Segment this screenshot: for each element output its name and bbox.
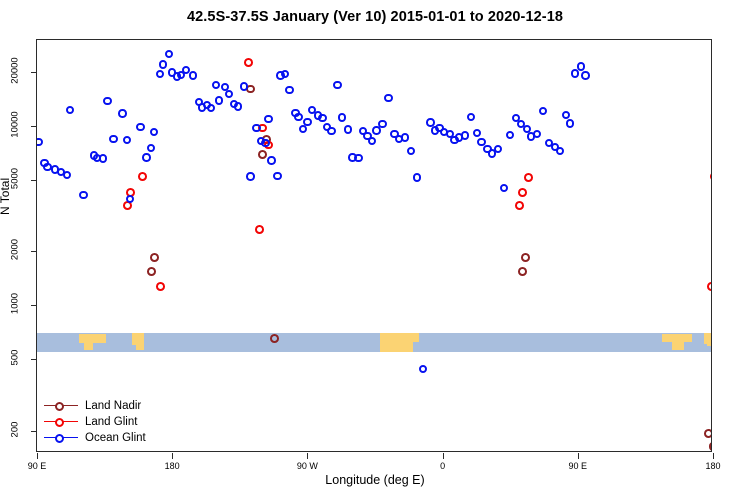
map-land-patch bbox=[672, 342, 684, 349]
data-point bbox=[338, 113, 346, 121]
data-point bbox=[281, 70, 289, 78]
data-point bbox=[413, 173, 421, 181]
data-point bbox=[156, 282, 165, 291]
data-point bbox=[109, 135, 117, 143]
data-point bbox=[333, 81, 341, 89]
y-tick-label: 10000 bbox=[10, 110, 21, 138]
legend-ring-icon bbox=[55, 434, 64, 443]
data-point bbox=[147, 267, 156, 276]
data-point bbox=[533, 130, 541, 138]
data-point bbox=[234, 102, 242, 110]
data-point bbox=[123, 136, 131, 144]
data-point bbox=[303, 118, 311, 126]
data-point bbox=[473, 129, 481, 137]
data-point bbox=[581, 71, 589, 79]
data-point bbox=[261, 139, 269, 147]
data-point bbox=[270, 334, 279, 343]
map-land-patch bbox=[401, 333, 419, 342]
data-point bbox=[518, 267, 527, 276]
plot-frame: 2005001000200050001000020000 90 E18090 W… bbox=[36, 39, 712, 452]
y-tick-label: 1000 bbox=[10, 290, 21, 318]
data-point bbox=[126, 195, 134, 203]
y-tick-label: 20000 bbox=[10, 56, 21, 84]
y-tick bbox=[31, 180, 37, 181]
data-point bbox=[710, 172, 711, 181]
legend-label: Land Nadir bbox=[85, 400, 141, 412]
data-point bbox=[518, 188, 527, 197]
data-point bbox=[207, 104, 215, 112]
data-point bbox=[539, 107, 547, 115]
data-point bbox=[273, 172, 281, 180]
x-tick bbox=[443, 453, 444, 459]
data-point bbox=[63, 171, 71, 179]
legend-item[interactable]: Ocean Glint bbox=[44, 430, 146, 446]
data-point bbox=[707, 282, 711, 291]
data-point bbox=[66, 106, 74, 114]
data-point bbox=[327, 127, 335, 135]
x-tick-label: 180 bbox=[165, 461, 180, 471]
data-point bbox=[384, 94, 392, 102]
data-point bbox=[506, 131, 514, 139]
map-land-patch bbox=[136, 345, 144, 350]
legend-ring-icon bbox=[55, 402, 64, 411]
y-tick bbox=[31, 359, 37, 360]
data-point bbox=[79, 191, 87, 199]
data-point bbox=[571, 69, 579, 77]
data-point bbox=[267, 156, 275, 164]
x-tick bbox=[37, 453, 38, 459]
data-point bbox=[494, 145, 502, 153]
legend-item[interactable]: Land Glint bbox=[44, 414, 146, 430]
data-point bbox=[318, 114, 326, 122]
chart-figure: 42.5S-37.5S January (Ver 10) 2015-01-01 … bbox=[0, 0, 750, 500]
data-point bbox=[294, 113, 302, 121]
y-tick bbox=[31, 251, 37, 252]
legend-item[interactable]: Land Nadir bbox=[44, 398, 146, 414]
data-point bbox=[368, 137, 376, 145]
data-point bbox=[461, 131, 469, 139]
map-land-patch bbox=[79, 334, 106, 343]
x-tick-label: 90 E bbox=[569, 461, 588, 471]
plot-area bbox=[37, 40, 711, 451]
data-point bbox=[264, 115, 272, 123]
y-tick bbox=[31, 126, 37, 127]
data-point bbox=[704, 429, 711, 438]
data-point bbox=[524, 173, 533, 182]
y-tick bbox=[31, 305, 37, 306]
data-point bbox=[566, 119, 574, 127]
data-point bbox=[709, 442, 711, 451]
data-point bbox=[103, 97, 111, 105]
data-point bbox=[556, 147, 564, 155]
data-point bbox=[252, 124, 260, 132]
x-tick bbox=[307, 453, 308, 459]
data-point bbox=[401, 133, 409, 141]
data-point bbox=[37, 138, 43, 146]
chart-title: 42.5S-37.5S January (Ver 10) 2015-01-01 … bbox=[0, 9, 750, 25]
map-land-patch bbox=[662, 334, 692, 342]
data-point bbox=[99, 154, 107, 162]
data-point bbox=[142, 153, 150, 161]
data-point bbox=[258, 150, 267, 159]
data-point bbox=[521, 253, 530, 262]
data-point bbox=[165, 50, 173, 58]
legend-marker-icon bbox=[44, 415, 78, 429]
legend-ring-icon bbox=[55, 418, 64, 427]
x-tick-label: 90 W bbox=[297, 461, 318, 471]
chart-legend: Land NadirLand GlintOcean Glint bbox=[44, 398, 146, 446]
data-point bbox=[244, 58, 253, 67]
x-tick-label: 90 E bbox=[28, 461, 47, 471]
y-axis-title: N Total bbox=[0, 178, 12, 215]
data-point bbox=[159, 60, 167, 68]
legend-label: Ocean Glint bbox=[85, 432, 146, 444]
y-tick bbox=[31, 72, 37, 73]
y-tick-label: 500 bbox=[10, 344, 21, 372]
data-point bbox=[246, 172, 254, 180]
data-point bbox=[156, 70, 164, 78]
data-point bbox=[354, 154, 362, 162]
x-axis-title: Longitude (deg E) bbox=[0, 473, 750, 487]
legend-label: Land Glint bbox=[85, 416, 137, 428]
data-point bbox=[136, 123, 144, 131]
x-tick bbox=[172, 453, 173, 459]
data-point bbox=[562, 111, 570, 119]
data-point bbox=[255, 225, 264, 234]
map-land-patch bbox=[84, 343, 93, 350]
data-point bbox=[225, 90, 233, 98]
data-point bbox=[215, 96, 223, 104]
data-point bbox=[150, 128, 158, 136]
data-point bbox=[577, 62, 585, 70]
x-tick bbox=[713, 453, 714, 459]
legend-marker-icon bbox=[44, 431, 78, 445]
data-point bbox=[189, 71, 197, 79]
data-point bbox=[515, 201, 524, 210]
map-land-patch bbox=[707, 340, 711, 346]
data-point bbox=[138, 172, 147, 181]
data-point bbox=[212, 81, 220, 89]
data-point bbox=[407, 147, 415, 155]
x-tick-label: 180 bbox=[705, 461, 720, 471]
data-point bbox=[378, 120, 386, 128]
x-tick bbox=[578, 453, 579, 459]
data-point bbox=[147, 144, 155, 152]
data-point bbox=[500, 184, 508, 192]
map-land-patch bbox=[132, 333, 144, 345]
data-point bbox=[285, 86, 293, 94]
data-point bbox=[344, 125, 352, 133]
data-point bbox=[150, 253, 159, 262]
y-tick-label: 2000 bbox=[10, 236, 21, 264]
data-point bbox=[419, 365, 427, 373]
data-point bbox=[467, 113, 475, 121]
legend-marker-icon bbox=[44, 399, 78, 413]
data-point bbox=[118, 109, 126, 117]
y-tick bbox=[31, 431, 37, 432]
x-tick-label: 0 bbox=[440, 461, 445, 471]
y-tick-label: 200 bbox=[10, 415, 21, 443]
